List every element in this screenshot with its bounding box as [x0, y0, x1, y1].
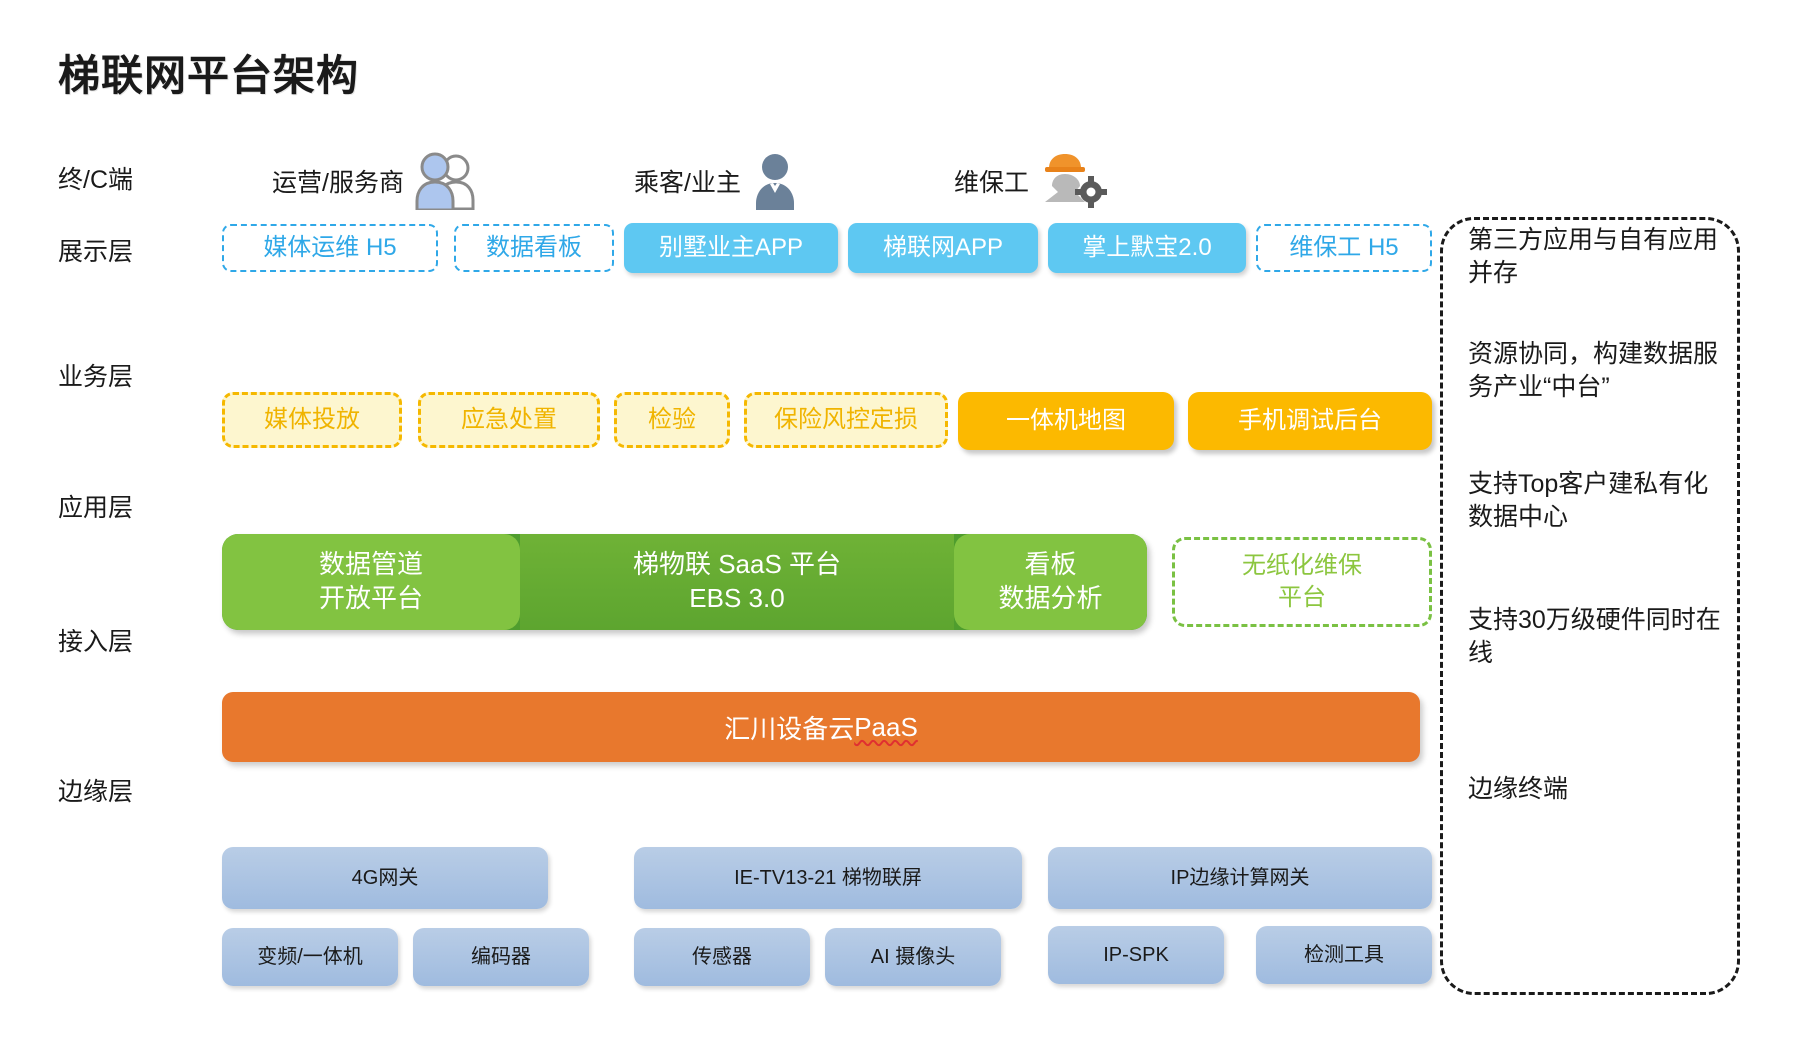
annotation-third-party-apps: 第三方应用与自有应用并存 — [1468, 224, 1730, 290]
app-segment-data-pipeline[interactable]: 数据管道 开放平台 — [222, 534, 520, 630]
chip-line-1: 无纸化维保 — [1242, 550, 1362, 582]
edge-chip-detection-tool[interactable]: 检测工具 — [1256, 926, 1432, 984]
segment-line-2: 开放平台 — [319, 582, 423, 616]
chip-label: 传感器 — [692, 945, 752, 970]
chip-label: 媒体运维 H5 — [263, 233, 396, 263]
row-label-application: 应用层 — [58, 488, 133, 524]
business-chip-media-delivery[interactable]: 媒体投放 — [222, 392, 402, 448]
chip-label: 掌上默宝2.0 — [1082, 233, 1211, 263]
chip-label: 变频/一体机 — [257, 945, 363, 970]
segment-line-1: 看板 — [1024, 548, 1076, 582]
segment-line-1: 数据管道 — [319, 548, 423, 582]
business-chip-inspection[interactable]: 检验 — [614, 392, 730, 448]
display-chip-villa-owner-app[interactable]: 别墅业主APP — [624, 223, 838, 273]
access-label-cn: 汇川设备云 — [724, 709, 854, 746]
chip-label: 编码器 — [471, 945, 531, 970]
row-label-edge: 边缘层 — [58, 772, 133, 808]
chip-label: 一体机地图 — [1006, 406, 1126, 436]
display-chip-maintainer-h5[interactable]: 维保工 H5 — [1256, 224, 1432, 272]
row-label-business: 业务层 — [58, 357, 133, 393]
segment-line-2: EBS 3.0 — [689, 582, 784, 616]
chip-label: 手机调试后台 — [1238, 406, 1382, 436]
business-chip-allinone-map[interactable]: 一体机地图 — [958, 392, 1174, 450]
app-segment-dashboard-analytics[interactable]: 看板 数据分析 — [954, 534, 1147, 630]
annotation-private-datacenter: 支持Top客户建私有化数据中心 — [1468, 468, 1730, 534]
display-chip-tilianwang-app[interactable]: 梯联网APP — [848, 223, 1038, 273]
business-chip-mobile-debug-backend[interactable]: 手机调试后台 — [1188, 392, 1432, 450]
edge-chip-ip-edge-gateway[interactable]: IP边缘计算网关 — [1048, 847, 1432, 909]
display-chip-data-dashboard[interactable]: 数据看板 — [454, 224, 614, 272]
display-chip-zhangshang-mobao[interactable]: 掌上默宝2.0 — [1048, 223, 1246, 273]
chip-label: 数据看板 — [486, 233, 582, 263]
persona-operator: 运营/服务商 — [272, 152, 476, 210]
segment-line-1: 梯物联 SaaS 平台 — [633, 548, 841, 582]
access-label-paas: PaaS — [854, 712, 918, 743]
annotation-edge-terminal: 边缘终端 — [1468, 773, 1730, 806]
row-label-access: 接入层 — [58, 622, 133, 658]
chip-label: 媒体投放 — [264, 405, 360, 435]
persona-label: 运营/服务商 — [272, 163, 404, 199]
annotation-300k-hardware: 支持30万级硬件同时在线 — [1468, 604, 1730, 670]
chip-label: 梯联网APP — [883, 233, 1003, 263]
two-people-icon — [414, 152, 476, 210]
chip-label: 别墅业主APP — [659, 233, 803, 263]
edge-chip-inverter-allinone[interactable]: 变频/一体机 — [222, 928, 398, 986]
display-chip-media-ops-h5[interactable]: 媒体运维 H5 — [222, 224, 438, 272]
persona-label: 乘客/业主 — [634, 163, 741, 199]
row-label-display: 展示层 — [58, 232, 133, 268]
edge-chip-ie-tv13-21-screen[interactable]: IE-TV13-21 梯物联屏 — [634, 847, 1022, 909]
edge-chip-ip-spk[interactable]: IP-SPK — [1048, 926, 1224, 984]
edge-chip-encoder[interactable]: 编码器 — [413, 928, 589, 986]
edge-chip-sensor[interactable]: 传感器 — [634, 928, 810, 986]
annotation-resource-synergy: 资源协同，构建数据服务产业“中台” — [1468, 338, 1730, 404]
app-chip-paperless-maintenance[interactable]: 无纸化维保 平台 — [1172, 537, 1432, 627]
business-chip-insurance-risk[interactable]: 保险风控定损 — [744, 392, 948, 448]
chip-label: 检验 — [648, 405, 696, 435]
access-layer-bar[interactable]: 汇川设备云 PaaS — [222, 692, 1420, 762]
row-label-terminal: 终/C端 — [58, 160, 133, 196]
chip-label: IP-SPK — [1103, 943, 1169, 968]
person-icon — [751, 152, 799, 210]
application-layer-bar: 数据管道 开放平台 梯物联 SaaS 平台 EBS 3.0 看板 数据分析 — [222, 534, 1147, 630]
chip-label: 维保工 H5 — [1289, 233, 1398, 263]
chip-label: 检测工具 — [1304, 943, 1384, 968]
app-segment-saas-platform[interactable]: 梯物联 SaaS 平台 EBS 3.0 — [520, 534, 954, 630]
chip-label: 保险风控定损 — [774, 405, 918, 435]
persona-passenger: 乘客/业主 — [634, 152, 799, 210]
edge-chip-ai-camera[interactable]: AI 摄像头 — [825, 928, 1001, 986]
chip-label: IE-TV13-21 梯物联屏 — [734, 866, 922, 891]
segment-line-2: 数据分析 — [998, 582, 1102, 616]
chip-label: AI 摄像头 — [871, 945, 955, 970]
chip-label: IP边缘计算网关 — [1171, 866, 1310, 891]
chip-label: 应急处置 — [461, 405, 557, 435]
page-title: 梯联网平台架构 — [58, 42, 359, 103]
persona-label: 维保工 — [954, 163, 1029, 199]
worker-gear-icon — [1039, 152, 1109, 210]
persona-maintainer: 维保工 — [954, 152, 1109, 210]
chip-line-2: 平台 — [1278, 582, 1326, 614]
edge-chip-4g-gateway[interactable]: 4G网关 — [222, 847, 548, 909]
chip-label: 4G网关 — [352, 866, 419, 891]
business-chip-emergency-handling[interactable]: 应急处置 — [418, 392, 600, 448]
